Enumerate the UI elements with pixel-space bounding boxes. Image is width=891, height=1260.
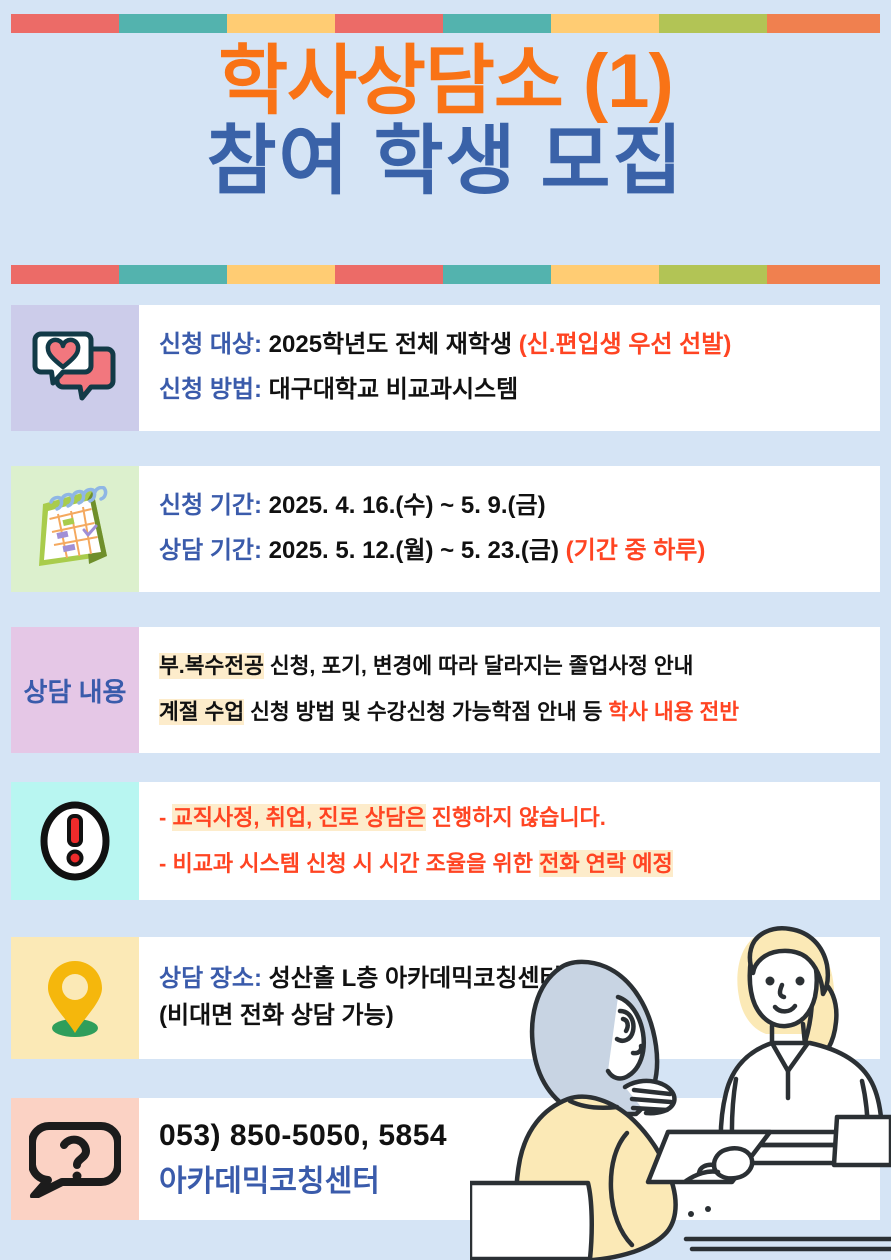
- row-body-target: 신청 대상: 2025학년도 전체 재학생 (신.편입생 우선 선발) 신청 방…: [139, 305, 880, 431]
- notice-line-2: - 비교과 시스템 신청 시 시간 조율을 위한 전화 연락 예정: [159, 850, 874, 878]
- stripe-red-1: [11, 265, 119, 284]
- stripe-bar-top: [11, 14, 880, 33]
- info-row-period: 신청 기간: 2025. 4. 16.(수) ~ 5. 9.(금) 상담 기간:…: [11, 466, 880, 592]
- row-body-contact: 053) 850-5050, 5854 아카데믹코칭센터: [139, 1098, 880, 1220]
- info-row-content: 상담 내용 부.복수전공 신청, 포기, 변경에 따라 달라지는 졸업사정 안내…: [11, 627, 880, 753]
- stripe-teal-2: [443, 265, 551, 284]
- period-line-1-body: 2025. 4. 16.(수) ~ 5. 9.(금): [269, 492, 546, 519]
- info-row-place: 상담 장소: 성산홀 L층 아카데믹코칭센터 (비대면 전화 상담 가능): [11, 937, 880, 1059]
- row-body-place: 상담 장소: 성산홀 L층 아카데믹코칭센터 (비대면 전화 상담 가능): [139, 937, 880, 1059]
- icon-panel-place: [11, 937, 139, 1059]
- stripe-olive: [659, 14, 767, 33]
- target-line-2-label: 신청 방법:: [159, 376, 262, 403]
- icon-panel-contact: [11, 1098, 139, 1220]
- period-line-2-accent: (기간 중 하루): [566, 537, 706, 564]
- stripe-teal-1: [119, 265, 227, 284]
- target-line-2: 신청 방법: 대구대학교 비교과시스템: [159, 375, 874, 406]
- icon-panel-notice: [11, 782, 139, 900]
- period-line-2-label: 상담 기간:: [159, 537, 262, 564]
- stripe-yellow-1: [227, 265, 335, 284]
- notice-line-2-dash: -: [159, 851, 166, 876]
- period-line-2: 상담 기간: 2025. 5. 12.(월) ~ 5. 23.(금) (기간 중…: [159, 536, 874, 567]
- contact-center-name: 아카데믹코칭센터: [159, 1163, 874, 1201]
- notice-line-1-dash: -: [159, 805, 166, 830]
- notice-line-1: - 교직사정, 취업, 진로 상담은 진행하지 않습니다.: [159, 804, 874, 832]
- place-line-2: (비대면 전화 상담 가능): [159, 1001, 874, 1032]
- title-line-1: 학사상담소 (1): [0, 44, 891, 120]
- stripe-red-2: [335, 14, 443, 33]
- info-row-contact: 053) 850-5050, 5854 아카데믹코칭센터: [11, 1098, 880, 1220]
- icon-panel-content: 상담 내용: [11, 627, 139, 753]
- content-line-2-body: 신청 방법 및 수강신청 가능학점 안내 등: [244, 700, 608, 724]
- question-speech-bubble-icon: [29, 1120, 121, 1198]
- info-row-target: 신청 대상: 2025학년도 전체 재학생 (신.편입생 우선 선발) 신청 방…: [11, 305, 880, 431]
- place-line-1: 상담 장소: 성산홀 L층 아카데믹코칭센터: [159, 964, 874, 995]
- notice-line-2-body: 비교과 시스템 신청 시 시간 조율을 위한: [172, 851, 539, 876]
- icon-panel-period: [11, 466, 139, 592]
- row-body-content: 부.복수전공 신청, 포기, 변경에 따라 달라지는 졸업사정 안내 계절 수업…: [139, 627, 880, 753]
- target-line-2-body: 대구대학교 비교과시스템: [269, 376, 519, 403]
- content-line-2: 계절 수업 신청 방법 및 수강신청 가능학점 안내 등 학사 내용 전반: [159, 699, 874, 727]
- exclamation-circle-icon: [39, 800, 111, 882]
- content-line-2-highlight: 계절 수업: [159, 699, 244, 725]
- map-pin-icon: [39, 955, 111, 1041]
- target-line-1-accent: (신.편입생 우선 선발): [519, 331, 732, 358]
- place-line-1-label: 상담 장소:: [159, 965, 262, 992]
- stripe-orange: [767, 14, 880, 33]
- icon-panel-target: [11, 305, 139, 431]
- content-line-1: 부.복수전공 신청, 포기, 변경에 따라 달라지는 졸업사정 안내: [159, 653, 874, 681]
- content-line-2-accent: 학사 내용 전반: [608, 700, 739, 724]
- poster-title: 학사상담소 (1) 참여 학생 모집: [0, 44, 891, 200]
- notice-line-2-highlight: 전화 연락 예정: [539, 850, 673, 877]
- notice-line-1-rest: 진행하지 않습니다.: [426, 805, 606, 830]
- target-line-1-body: 2025학년도 전체 재학생: [269, 331, 512, 358]
- stripe-yellow-2: [551, 14, 659, 33]
- stripe-yellow-1: [227, 14, 335, 33]
- content-line-1-body: 신청, 포기, 변경에 따라 달라지는 졸업사정 안내: [264, 654, 694, 678]
- info-row-notice: - 교직사정, 취업, 진로 상담은 진행하지 않습니다. - 비교과 시스템 …: [11, 782, 880, 900]
- speech-bubbles-heart-icon: [29, 329, 121, 407]
- stripe-red-2: [335, 265, 443, 284]
- place-line-1-body: 성산홀 L층 아카데믹코칭센터: [269, 965, 562, 992]
- row-body-notice: - 교직사정, 취업, 진로 상담은 진행하지 않습니다. - 비교과 시스템 …: [139, 782, 880, 900]
- period-line-1: 신청 기간: 2025. 4. 16.(수) ~ 5. 9.(금): [159, 491, 874, 522]
- contact-phone: 053) 850-5050, 5854: [159, 1117, 874, 1155]
- stripe-bar-bottom: [11, 265, 880, 284]
- title-line-2: 참여 학생 모집: [0, 124, 891, 200]
- period-line-2-body: 2025. 5. 12.(월) ~ 5. 23.(금): [269, 537, 559, 564]
- poster-root: 학사상담소 (1) 참여 학생 모집 신청 대상: 2025학년도 전체 재학생…: [0, 0, 891, 1260]
- target-line-1-label: 신청 대상:: [159, 331, 262, 358]
- stripe-red-1: [11, 14, 119, 33]
- period-line-1-label: 신청 기간:: [159, 492, 262, 519]
- stripe-teal-1: [119, 14, 227, 33]
- target-line-1: 신청 대상: 2025학년도 전체 재학생 (신.편입생 우선 선발): [159, 330, 874, 361]
- notice-line-1-highlight: 교직사정, 취업, 진로 상담은: [172, 804, 425, 831]
- stripe-olive: [659, 265, 767, 284]
- stripe-orange: [767, 265, 880, 284]
- desk-calendar-icon: [27, 486, 123, 572]
- content-line-1-highlight: 부.복수전공: [159, 653, 264, 679]
- stripe-yellow-2: [551, 265, 659, 284]
- stripe-teal-2: [443, 14, 551, 33]
- content-panel-label: 상담 내용: [24, 672, 127, 709]
- row-body-period: 신청 기간: 2025. 4. 16.(수) ~ 5. 9.(금) 상담 기간:…: [139, 466, 880, 592]
